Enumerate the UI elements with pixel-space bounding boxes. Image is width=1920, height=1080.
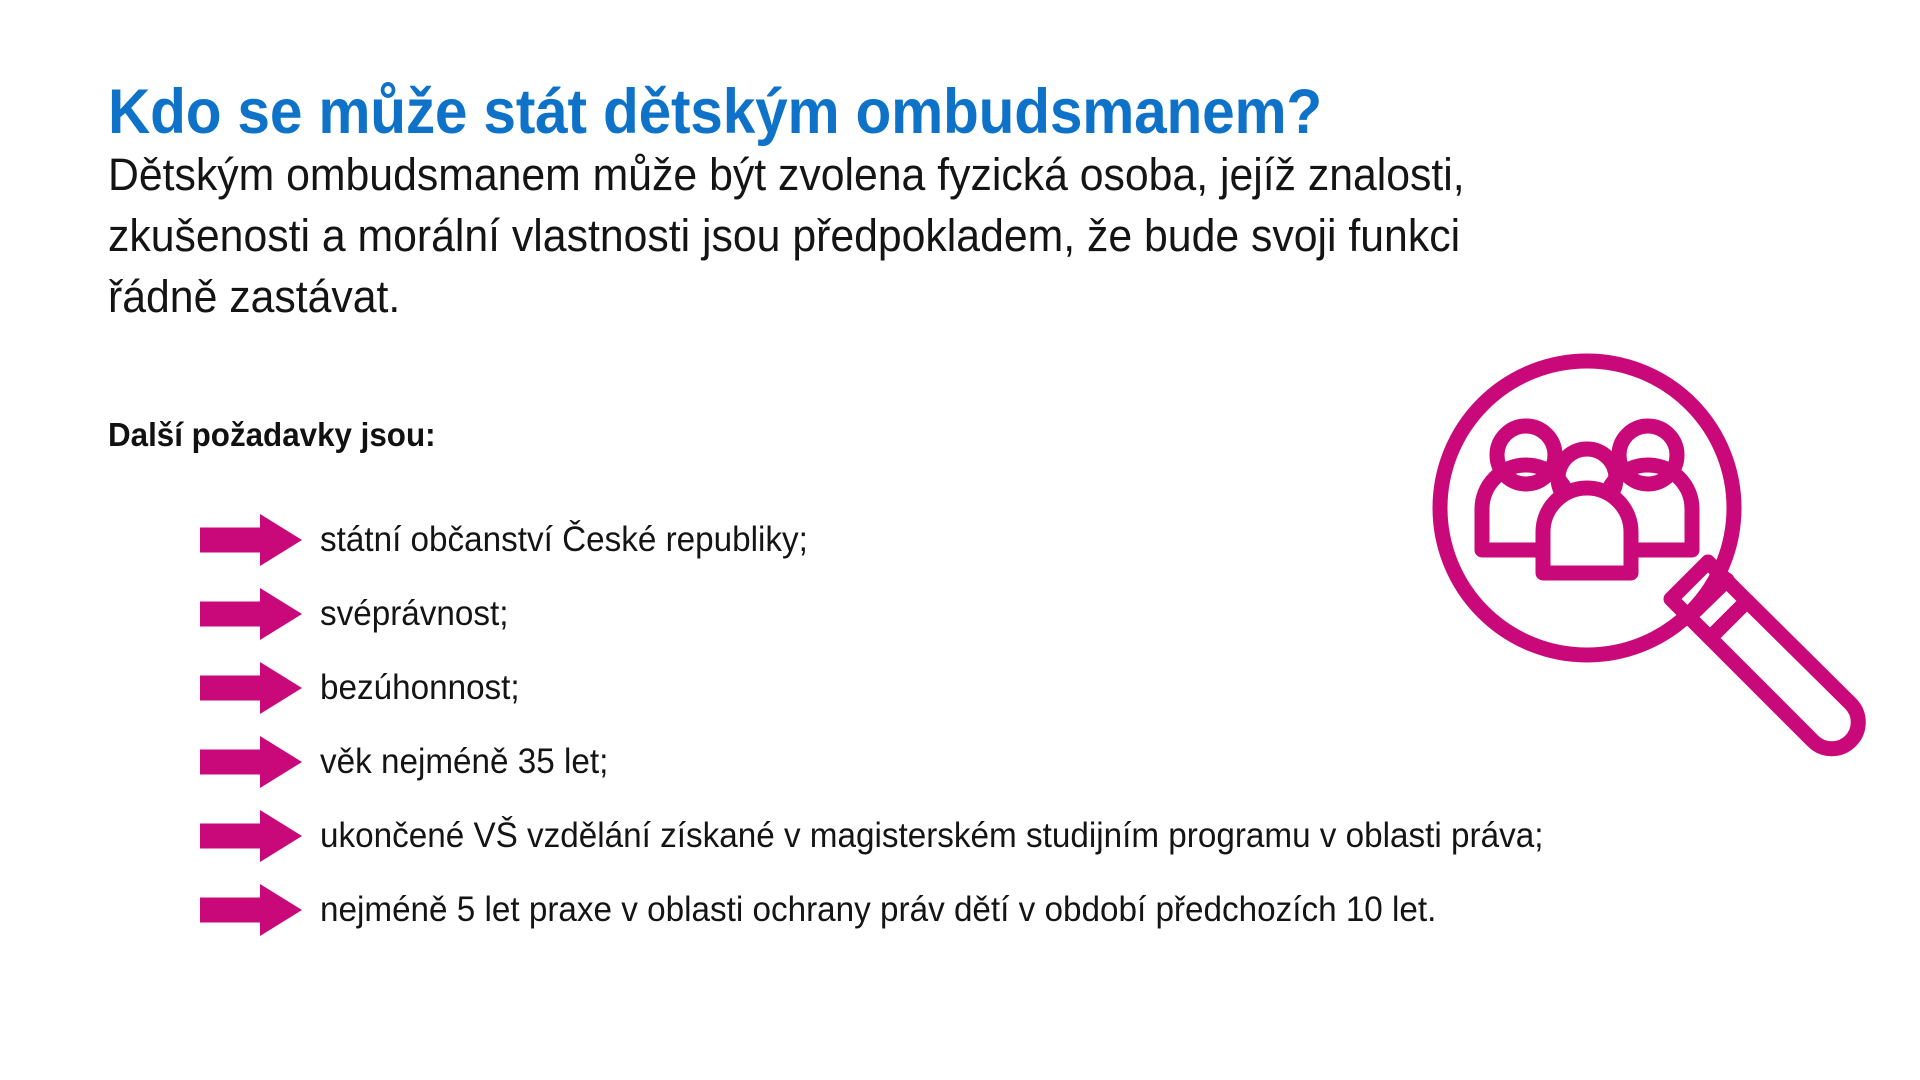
- intro-line-1: Dětským ombudsmanem může být zvolena fyz…: [108, 144, 1647, 205]
- arrow-right-icon: [200, 662, 302, 714]
- list-item-label: věk nejméně 35 let;: [320, 741, 608, 783]
- list-item-label: svéprávnost;: [320, 593, 509, 635]
- list-item: nejméně 5 let praxe v oblasti ochrany pr…: [200, 873, 1840, 947]
- intro-line-3: řádně zastávat.: [108, 266, 1647, 327]
- list-item-label: nejméně 5 let praxe v oblasti ochrany pr…: [320, 889, 1436, 931]
- arrow-right-icon: [200, 810, 302, 862]
- intro-paragraph: Dětským ombudsmanem může být zvolena fyz…: [108, 144, 1647, 327]
- slide-root: Kdo se může stát dětským ombudsmanem? Dě…: [0, 0, 1920, 1080]
- list-item-label: ukončené VŠ vzdělání získané v magisters…: [320, 815, 1543, 857]
- list-item-label: státní občanství České republiky;: [320, 519, 808, 561]
- arrow-right-icon: [200, 736, 302, 788]
- intro-line-2: zkušenosti a morální vlastnosti jsou pře…: [108, 205, 1647, 266]
- requirements-subheading: Další požadavky jsou:: [108, 415, 436, 455]
- arrow-right-icon: [200, 514, 302, 566]
- three-people-group: [1482, 426, 1692, 573]
- arrow-right-icon: [200, 588, 302, 640]
- handle: [1671, 562, 1858, 749]
- page-title: Kdo se může stát dětským ombudsmanem?: [108, 76, 1503, 148]
- list-item: ukončené VŠ vzdělání získané v magisters…: [200, 799, 1840, 873]
- list-item-label: bezúhonnost;: [320, 667, 520, 709]
- magnifying-glass-with-people-icon: [1420, 348, 1890, 803]
- arrow-right-icon: [200, 884, 302, 936]
